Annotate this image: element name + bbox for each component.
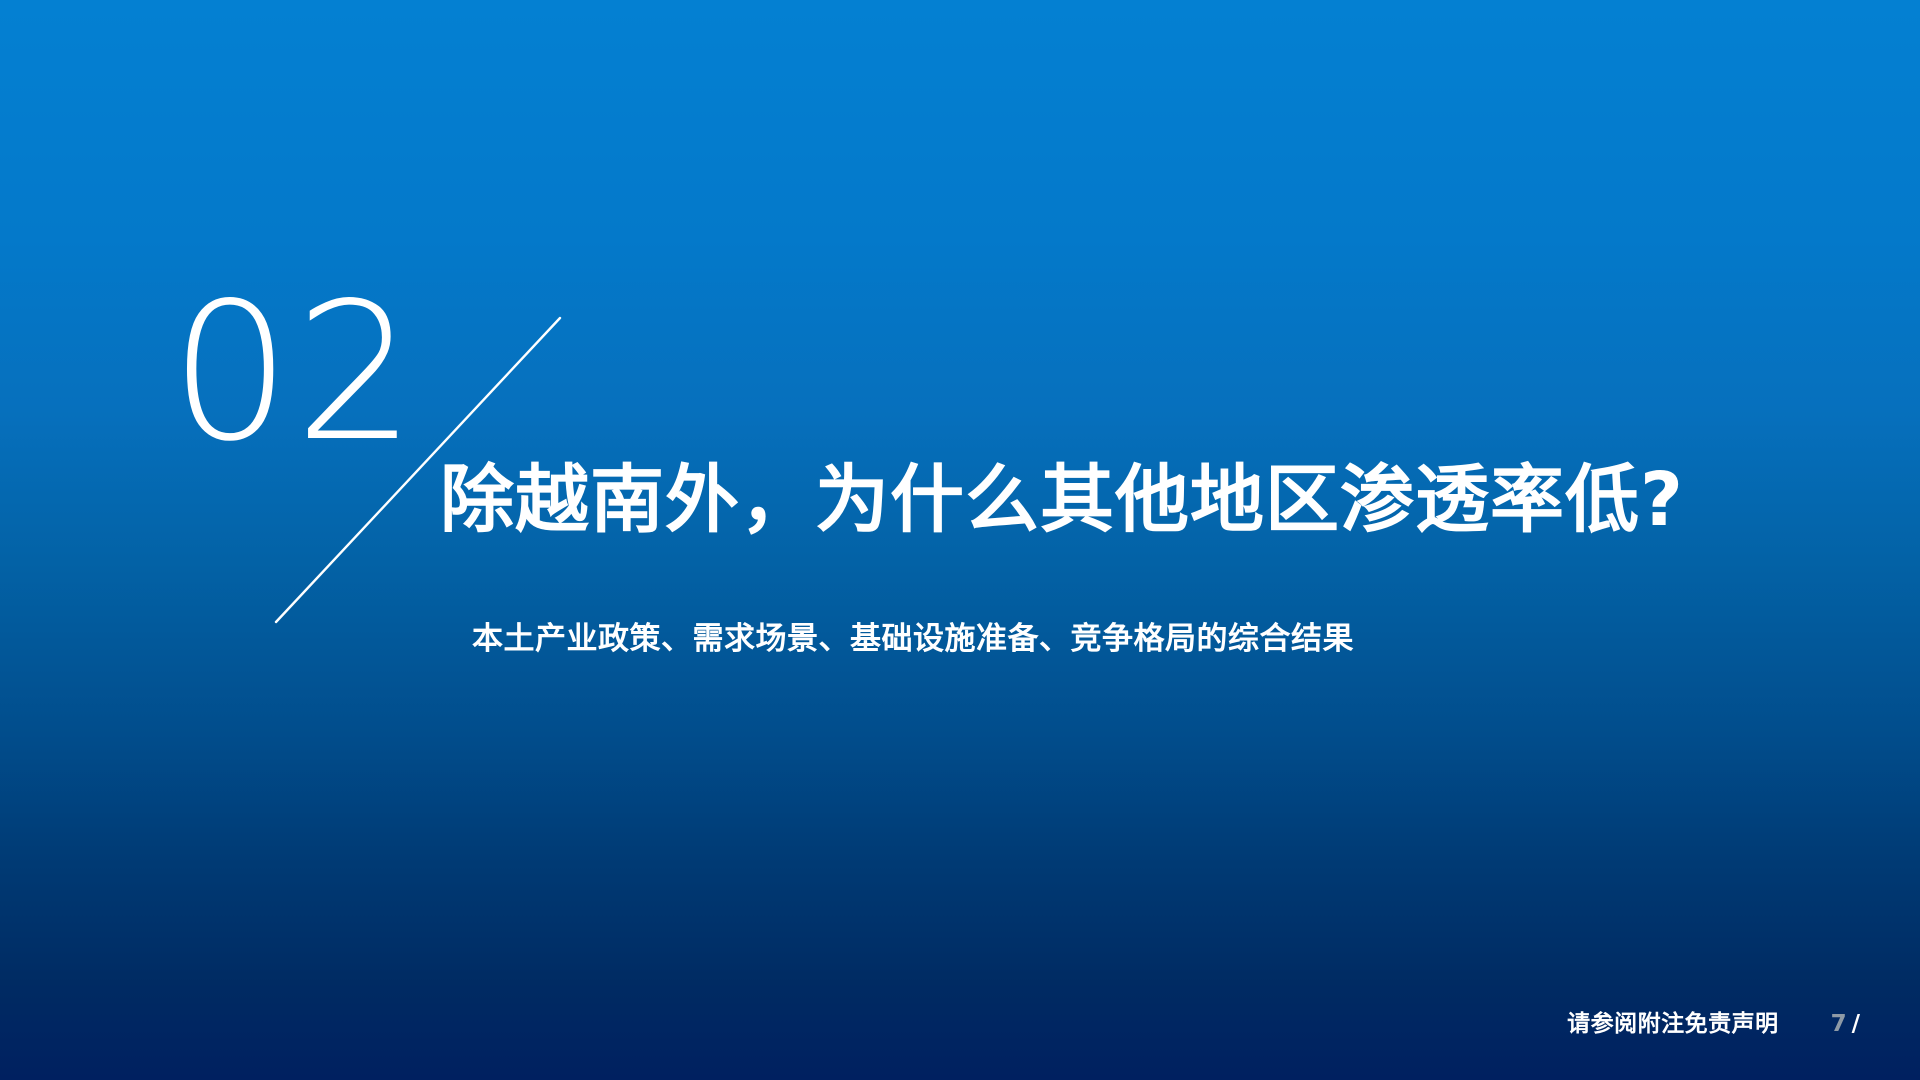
page-number: 7 — [1831, 1011, 1847, 1037]
slide-footer: 请参阅附注免责声明 7 / — [1567, 1004, 1860, 1038]
title-block: 除越南外，为什么其他地区渗透率低? — [440, 458, 1800, 542]
disclaimer-note: 请参阅附注免责声明 — [1567, 1004, 1779, 1038]
page-indicator: 7 / — [1831, 1011, 1860, 1037]
presentation-slide: 02 除越南外，为什么其他地区渗透率低? 本土产业政策、需求场景、基础设施准备、… — [0, 0, 1920, 1080]
section-number: 02 — [170, 278, 420, 468]
page-separator: / — [1852, 1011, 1860, 1037]
slide-subtitle: 本土产业政策、需求场景、基础设施准备、竞争格局的综合结果 — [472, 620, 1354, 659]
slide-title: 除越南外，为什么其他地区渗透率低? — [440, 458, 1800, 542]
